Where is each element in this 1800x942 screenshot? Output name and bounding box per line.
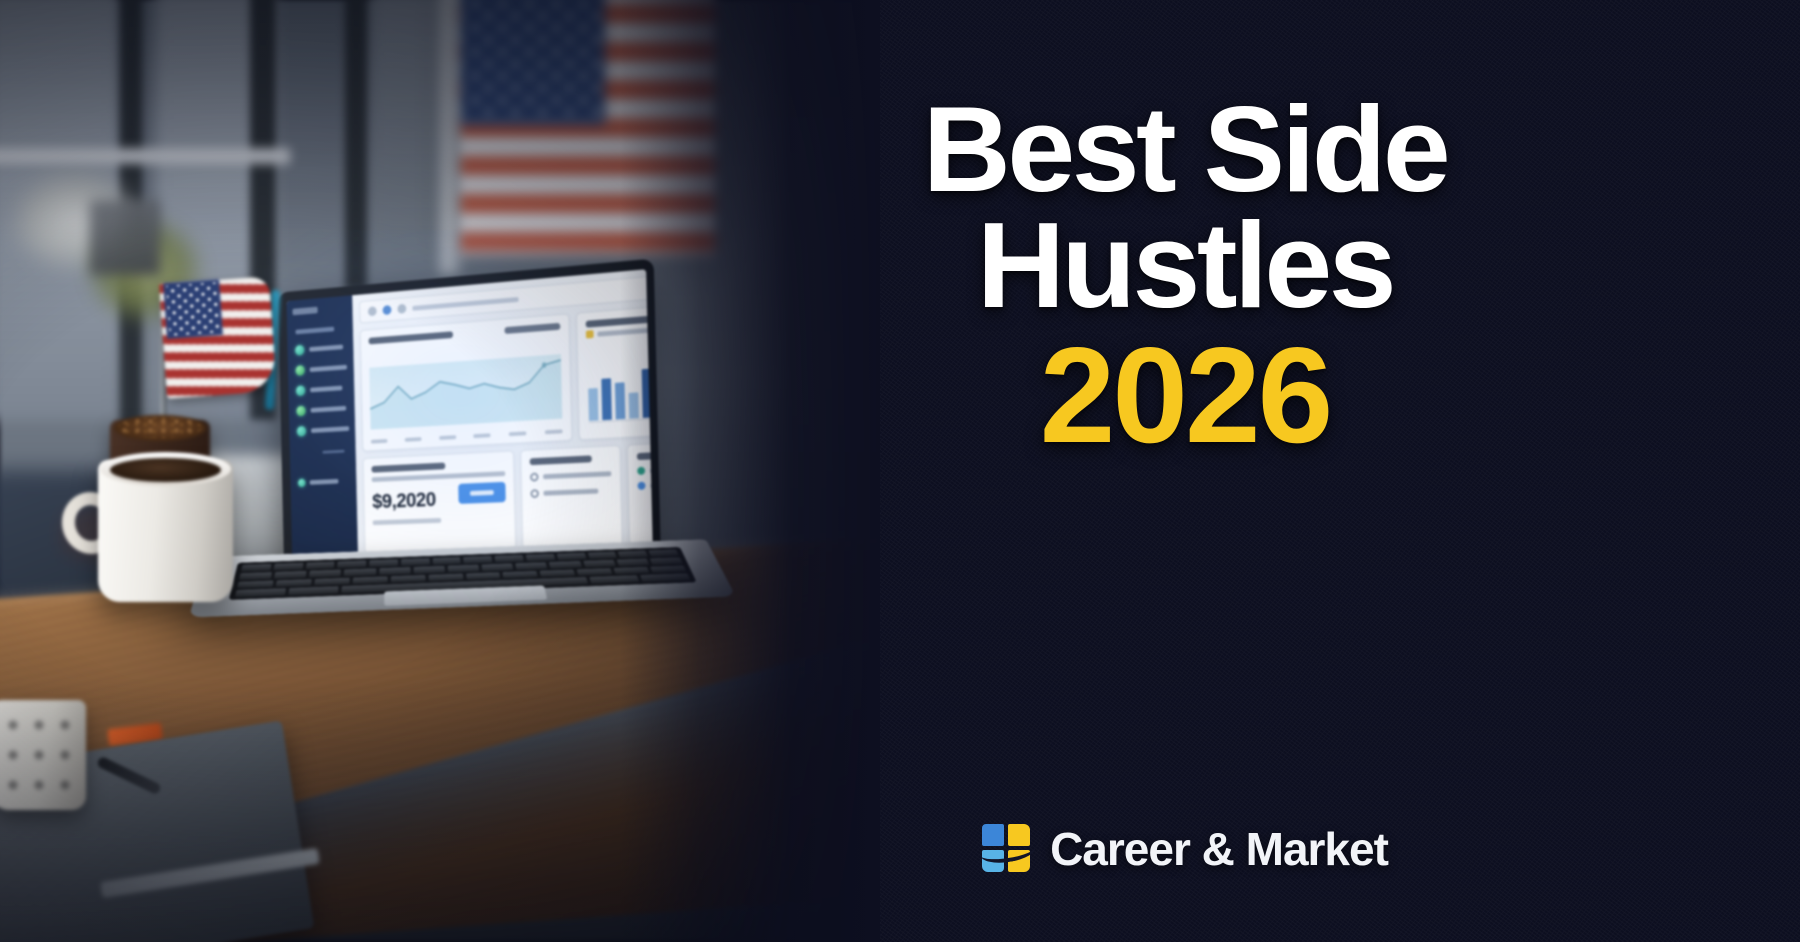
xtick	[371, 439, 388, 444]
sidebar-nav	[293, 341, 349, 436]
sidebar-section-title	[295, 327, 334, 335]
back-arrow-icon[interactable]	[368, 306, 377, 316]
sidebar-item-label	[311, 426, 349, 433]
sidebar-item-label	[311, 406, 347, 413]
refresh-icon[interactable]	[383, 305, 392, 315]
sidebar-item-label	[309, 345, 343, 352]
kpi-action-button[interactable]	[458, 481, 506, 503]
coffee-bean-texture	[118, 417, 202, 438]
donut-legend-item	[637, 464, 653, 475]
xtick	[545, 429, 563, 434]
sidebar-item-5[interactable]	[297, 423, 350, 436]
window-mullion	[0, 148, 290, 164]
legend-label	[650, 466, 653, 473]
sidebar-item-3[interactable]	[296, 382, 348, 396]
headline-year: 2026	[835, 327, 1535, 463]
headline-line-1: Best Side	[835, 90, 1535, 210]
list-item-label	[543, 471, 611, 479]
picture-frame	[90, 200, 160, 275]
activity-list-card	[520, 445, 622, 549]
brand-name: Career & Market	[1050, 822, 1388, 876]
kpi-card: $9,2020	[363, 450, 516, 553]
legend-dot-icon	[637, 467, 645, 475]
career-and-market-logo-icon	[982, 824, 1032, 874]
donut-title	[637, 450, 653, 460]
bullet-icon	[530, 473, 539, 482]
distribution-donut-card	[627, 441, 653, 546]
headline-block: Best Side Hustles 2026	[835, 90, 1535, 463]
nav-dot-icon	[296, 406, 305, 417]
sidebar-item-1[interactable]	[295, 341, 347, 355]
list-item[interactable]	[530, 469, 611, 481]
sidebar-item-4[interactable]	[296, 403, 348, 416]
workspace-photo-scene: $9,2020	[0, 0, 900, 942]
bullet-icon	[530, 489, 539, 498]
nav-dot-icon	[295, 345, 304, 356]
us-flag-stars	[462, 0, 600, 120]
laptop: $9,2020	[278, 259, 661, 573]
address-bar[interactable]	[412, 297, 518, 311]
list-title	[530, 455, 592, 465]
list-item[interactable]	[530, 486, 611, 498]
sidebar-item-label	[310, 365, 347, 372]
xtick	[405, 437, 422, 442]
xtick	[474, 433, 491, 438]
legend-label	[650, 481, 653, 488]
kpi-value: $9,2020	[372, 490, 436, 512]
dashboard-logo	[292, 307, 317, 316]
chart-title	[369, 331, 453, 344]
sidebar-divider	[322, 450, 344, 454]
kpi-footnote	[373, 518, 441, 525]
brand-lockup: Career & Market	[835, 822, 1535, 876]
monthly-trend-area-chart	[360, 313, 572, 451]
kpi-row: $9,2020	[363, 441, 653, 554]
globe-icon[interactable]	[397, 304, 406, 314]
chart-legend	[504, 323, 560, 334]
revenue-bar-chart	[576, 303, 653, 441]
thumbnail-banner: $9,2020	[0, 0, 1800, 942]
nav-dot-icon	[297, 426, 306, 437]
kpi-title	[371, 463, 445, 473]
headline-line-2: Hustles	[835, 206, 1535, 326]
bar	[601, 378, 612, 420]
cup-pattern	[0, 710, 80, 800]
area-chart-plot	[369, 354, 562, 429]
coffee-liquid	[110, 458, 221, 482]
legend-label	[597, 327, 653, 336]
sidebar-item-label	[310, 386, 342, 393]
nav-dot-icon	[296, 385, 305, 396]
bar	[588, 388, 598, 421]
us-flag-pole	[440, 0, 460, 275]
bar-chart-plot	[587, 347, 653, 421]
xtick	[509, 431, 527, 436]
laptop-screen: $9,2020	[286, 269, 652, 565]
donut-legend-item	[638, 480, 653, 490]
sidebar-footer-label	[310, 479, 339, 485]
desk-flag-stars	[166, 282, 219, 335]
list-item-label	[543, 489, 598, 496]
xtick	[439, 435, 456, 440]
bar	[615, 382, 626, 420]
legend-dot-icon	[638, 482, 646, 490]
charts-row	[360, 303, 653, 452]
bar	[629, 393, 639, 419]
nav-dot-icon	[298, 479, 306, 488]
dashboard-main: $9,2020	[352, 269, 653, 563]
sidebar-item-2[interactable]	[295, 362, 347, 376]
dashboard-sidebar	[286, 295, 358, 565]
nav-dot-icon	[295, 365, 304, 376]
area-chart-xticks	[371, 429, 563, 443]
area-chart-svg	[369, 354, 562, 429]
window-mullion	[345, 0, 367, 290]
sidebar-footer-item[interactable]	[296, 476, 350, 487]
bar	[642, 369, 653, 418]
legend-swatch-icon	[586, 330, 594, 338]
